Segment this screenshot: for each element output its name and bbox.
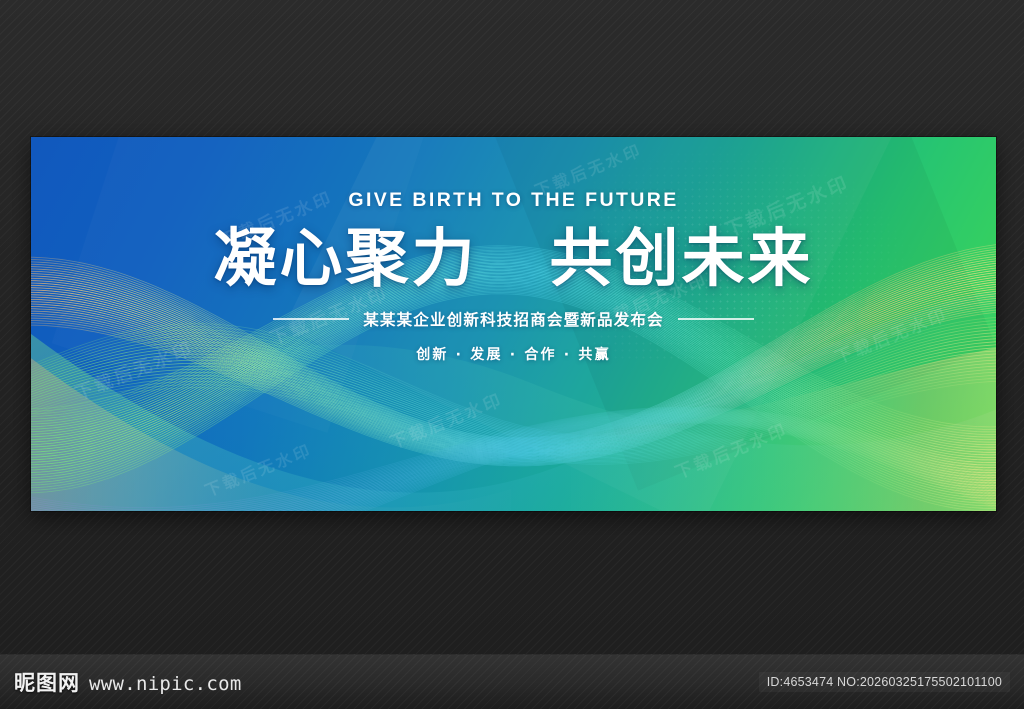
wave-graphic bbox=[31, 137, 996, 511]
banner-artboard: GIVE BIRTH TO THE FUTURE 凝心聚力 共创未来 某某某企业… bbox=[31, 137, 996, 511]
site-footer: 昵图网 www.nipic.com ID:4653474 NO:20260325… bbox=[0, 654, 1024, 709]
brand-name-cn: 昵图网 bbox=[14, 667, 80, 697]
brand-url: www.nipic.com bbox=[89, 673, 242, 695]
asset-id-label: ID:4653474 NO:20260325175502101100 bbox=[759, 672, 1010, 692]
site-brand[interactable]: 昵图网 www.nipic.com bbox=[14, 667, 242, 697]
